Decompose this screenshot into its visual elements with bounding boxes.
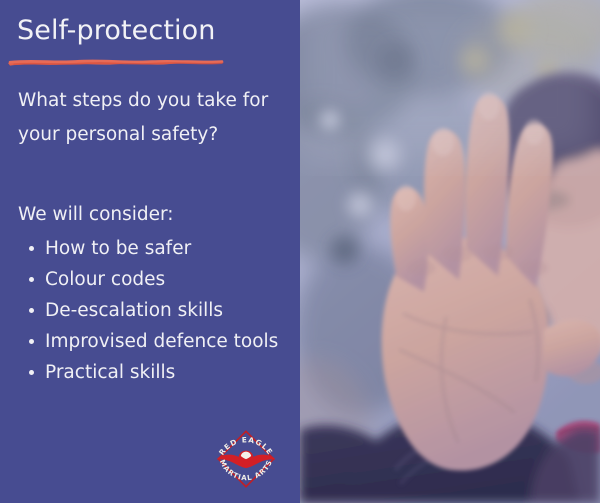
list-item-label: Colour codes bbox=[45, 269, 165, 290]
list-item: Colour codes bbox=[18, 264, 283, 295]
list-item: Improvised defence tools bbox=[18, 326, 283, 357]
list-item: De-escalation skills bbox=[18, 295, 283, 326]
list-item: Practical skills bbox=[18, 357, 283, 388]
bullet-dot-icon bbox=[29, 339, 34, 344]
subtitle: What steps do you take for your personal… bbox=[18, 84, 290, 152]
bullet-dot-icon bbox=[29, 370, 34, 375]
title-underline-brushstroke bbox=[6, 53, 228, 69]
bullet-dot-icon bbox=[29, 277, 34, 282]
list-item-label: How to be safer bbox=[45, 238, 191, 259]
bullet-dot-icon bbox=[29, 246, 34, 251]
topics-list: How to be safer Colour codes De-escalati… bbox=[18, 233, 283, 388]
slide-canvas: Self-protection What steps do you take f… bbox=[0, 0, 600, 503]
list-intro: We will consider: bbox=[18, 204, 174, 225]
list-item-label: De-escalation skills bbox=[45, 300, 223, 321]
page-title: Self-protection bbox=[17, 15, 215, 46]
photo-raised-hand bbox=[300, 0, 600, 503]
list-item-label: Practical skills bbox=[45, 362, 175, 383]
photo-illustration bbox=[300, 0, 600, 503]
list-item-label: Improvised defence tools bbox=[45, 331, 278, 352]
text-panel: Self-protection What steps do you take f… bbox=[0, 0, 300, 503]
bullet-dot-icon bbox=[29, 308, 34, 313]
red-eagle-martial-arts-logo: RED EAGLE MARTIAL ARTS bbox=[211, 424, 281, 494]
list-item: How to be safer bbox=[18, 233, 283, 264]
